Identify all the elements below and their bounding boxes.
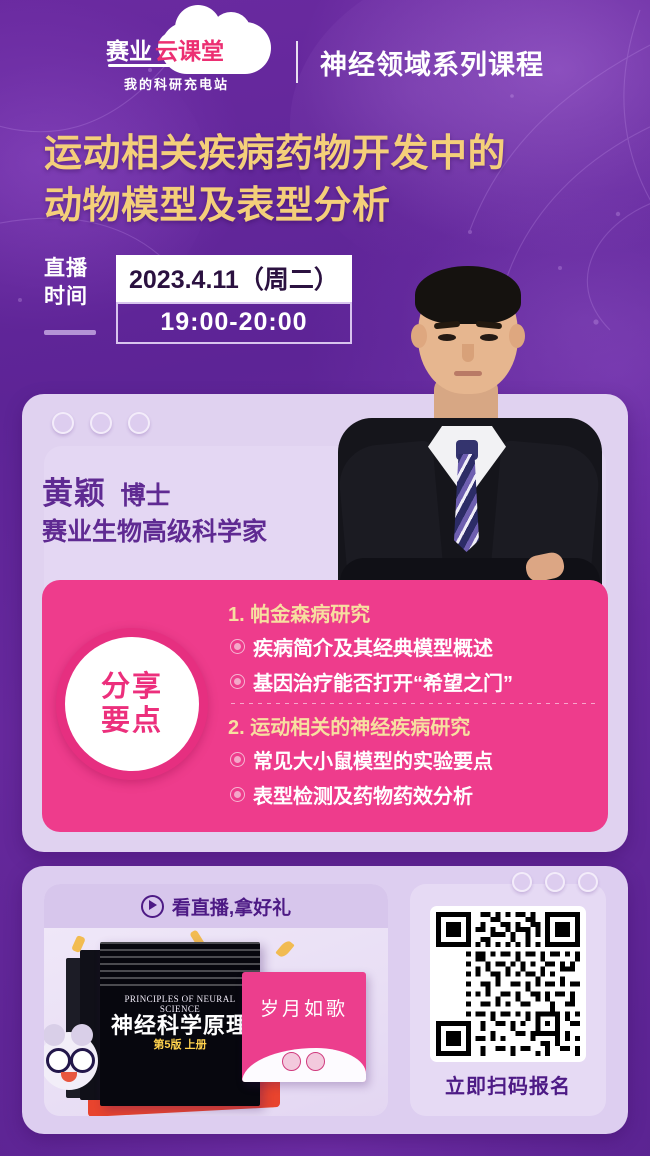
window-dots xyxy=(52,412,150,434)
photo-mouth xyxy=(454,371,482,376)
speaker-name-row: 黄颖 博士 xyxy=(42,468,170,513)
window-dot-icon xyxy=(52,412,74,434)
topic-heading: 2. 运动相关的神经疾病研究 xyxy=(228,711,596,740)
gift-box-mice xyxy=(282,1052,326,1070)
book-cover: PRINCIPLES OF NEURAL SCIENCE 神经科学原理 第5版 … xyxy=(100,942,260,1106)
topic-item-label: 常见大小鼠模型的实验要点 xyxy=(253,745,493,774)
photo-eye-right xyxy=(480,334,498,341)
speaker-organization: 赛业生物高级科学家 xyxy=(42,512,267,548)
qr-code-icon[interactable] xyxy=(430,906,586,1062)
live-time-underline xyxy=(44,330,96,335)
qr-section: 立即扫码报名 xyxy=(410,884,606,1116)
title-line-2: 动物模型及表型分析 xyxy=(44,180,650,232)
mouse-mascot-icon xyxy=(282,1052,301,1071)
photo-tie xyxy=(454,454,479,552)
title-line-1: 运动相关疾病药物开发中的 xyxy=(44,128,650,180)
book-edition: 第5版 上册 xyxy=(108,1036,252,1052)
photo-ear-right xyxy=(509,324,525,348)
photo-ear-left xyxy=(411,324,427,348)
logo-underline xyxy=(108,64,178,67)
confetti xyxy=(275,939,294,959)
mouse-mouth xyxy=(61,1072,77,1082)
live-hours: 19:00-20:00 xyxy=(116,302,352,344)
qr-caption: 立即扫码报名 xyxy=(410,1070,606,1099)
bullet-icon xyxy=(231,753,244,766)
qr-window-dots xyxy=(512,872,598,892)
window-dot-icon xyxy=(128,412,150,434)
speaker-degree: 博士 xyxy=(120,482,170,510)
topic-item: 基因治疗能否打开“希望之门” xyxy=(231,667,596,696)
mouse-glasses-left xyxy=(46,1048,71,1073)
speaker-photo xyxy=(330,258,610,610)
topic-item: 疾病简介及其经典模型概述 xyxy=(231,632,596,661)
window-dot-icon xyxy=(578,872,598,892)
topic-item-label: 疾病简介及其经典模型概述 xyxy=(253,632,493,661)
play-circle-icon xyxy=(141,895,164,918)
gift-section: 看直播,拿好礼 PRINCIPLES OF NEURAL SCIENCE 神经科… xyxy=(44,884,388,1116)
mouse-glasses-right xyxy=(70,1048,95,1073)
live-time-values: 2023.4.11（周二） 19:00-20:00 xyxy=(116,255,352,344)
window-dot-icon xyxy=(545,872,565,892)
topic-heading: 1. 帕金森病研究 xyxy=(228,598,596,627)
topic-item: 表型检测及药物药效分析 xyxy=(231,780,596,809)
gift-box-title: 岁月如歌 xyxy=(242,994,366,1021)
bullet-icon xyxy=(231,788,244,801)
gift-image: PRINCIPLES OF NEURAL SCIENCE 神经科学原理 第5版 … xyxy=(44,928,388,1116)
main-title: 运动相关疾病药物开发中的 动物模型及表型分析 xyxy=(44,128,650,233)
live-time-label-line1: 直播 xyxy=(44,255,102,283)
share-points-badge: 分享 要点 xyxy=(56,628,208,780)
gift-header: 看直播,拿好礼 xyxy=(44,884,388,928)
header-divider xyxy=(296,41,298,83)
badge-line-2: 要点 xyxy=(101,705,163,737)
badge-line-1: 分享 xyxy=(101,671,163,703)
poster-header: 赛业 云课堂 我的科研充电站 神经领域系列课程 xyxy=(0,0,650,102)
mouse-mascot-icon xyxy=(306,1052,325,1071)
bullet-icon xyxy=(231,640,244,653)
topic-separator xyxy=(231,703,596,704)
bottom-card: 看直播,拿好礼 PRINCIPLES OF NEURAL SCIENCE 神经科… xyxy=(22,866,628,1134)
live-time-label: 直播 时间 xyxy=(44,255,102,335)
photo-eye-left xyxy=(438,334,456,341)
qr-code-svg xyxy=(436,912,580,1056)
topics-list: 1. 帕金森病研究 疾病简介及其经典模型概述 基因治疗能否打开“希望之门” 2.… xyxy=(228,596,596,815)
logo-cloud-text: 云课堂 xyxy=(155,40,224,63)
topic-item-label: 基因治疗能否打开“希望之门” xyxy=(253,667,513,696)
speaker-name: 黄颖 xyxy=(42,476,106,511)
webinar-poster: 赛业 云课堂 我的科研充电站 神经领域系列课程 运动相关疾病药物开发中的 动物模… xyxy=(0,0,650,1156)
live-date: 2023.4.11（周二） xyxy=(116,255,352,302)
share-points-box: 分享 要点 1. 帕金森病研究 疾病简介及其经典模型概述 基因治疗能否打开“希望… xyxy=(42,580,608,832)
logo-wordmark: 赛业 云课堂 xyxy=(106,40,274,63)
window-dot-icon xyxy=(90,412,112,434)
share-points-badge-inner: 分享 要点 xyxy=(65,637,199,771)
topic-item-label: 表型检测及药物药效分析 xyxy=(253,780,473,809)
live-time-label-line2: 时间 xyxy=(44,283,102,311)
photo-nose xyxy=(462,344,474,362)
logo-subtitle: 我的科研充电站 xyxy=(124,74,229,93)
gift-title: 看直播,拿好礼 xyxy=(172,893,291,920)
brand-logo: 赛业 云课堂 我的科研充电站 xyxy=(106,24,274,100)
photo-hair xyxy=(415,266,521,324)
gift-box: 岁月如歌 xyxy=(242,972,366,1082)
series-title: 神经领域系列课程 xyxy=(320,43,544,82)
logo-brand-text: 赛业 xyxy=(106,40,152,63)
bullet-icon xyxy=(231,675,244,688)
topic-item: 常见大小鼠模型的实验要点 xyxy=(231,745,596,774)
window-dot-icon xyxy=(512,872,532,892)
